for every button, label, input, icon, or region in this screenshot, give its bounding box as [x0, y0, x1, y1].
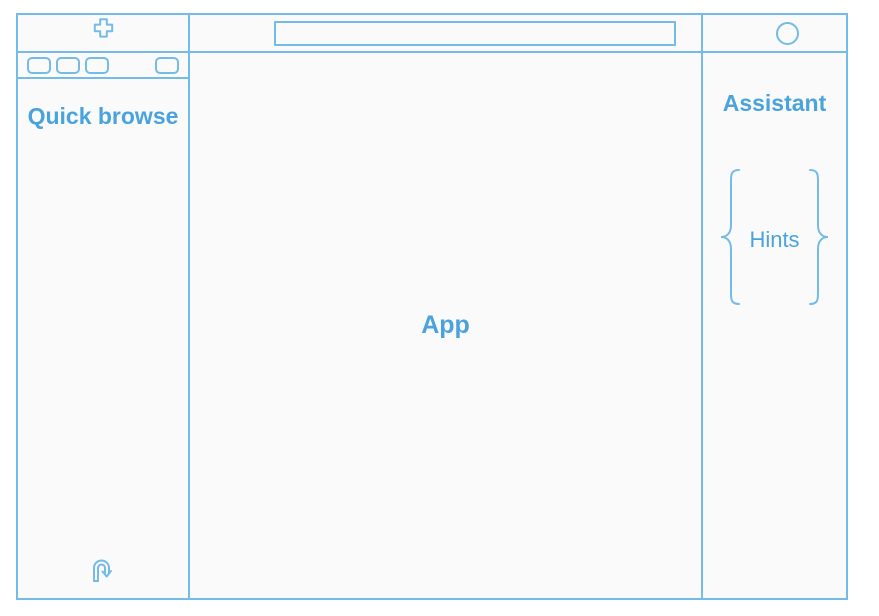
sidebar-toolbar [18, 53, 188, 79]
hints-label: Hints [744, 227, 804, 253]
hints-block: Hints [703, 167, 846, 312]
top-bar [18, 15, 846, 53]
sidebar-title: Quick browse [18, 101, 188, 131]
sidebar-footer [18, 555, 188, 590]
app-content-area: App [190, 53, 703, 598]
sidebar-panel: Quick browse [18, 53, 190, 598]
sidebar-content: Quick browse [18, 79, 188, 598]
assistant-panel: Assistant Hints [703, 53, 846, 598]
right-curly-brace-icon [805, 167, 831, 312]
top-bar-center-section [190, 15, 703, 51]
top-bar-left-section [18, 15, 190, 51]
sidebar-tool-button-3[interactable] [85, 57, 109, 74]
left-curly-brace-icon [718, 167, 744, 312]
avatar-circle-icon[interactable] [776, 22, 799, 45]
assistant-title: Assistant [723, 90, 827, 117]
search-input[interactable] [274, 21, 676, 46]
sidebar-tool-button-1[interactable] [27, 57, 51, 74]
sidebar-tool-button-2[interactable] [56, 57, 80, 74]
undo-uturn-arrow-icon[interactable] [87, 555, 119, 590]
top-bar-right-section [703, 15, 846, 51]
app-label: App [421, 311, 470, 340]
main-body: Quick browse App [18, 53, 846, 598]
sidebar-tool-button-4[interactable] [155, 57, 179, 74]
wireframe-window: Quick browse App [16, 13, 848, 600]
plus-icon[interactable] [90, 17, 117, 49]
